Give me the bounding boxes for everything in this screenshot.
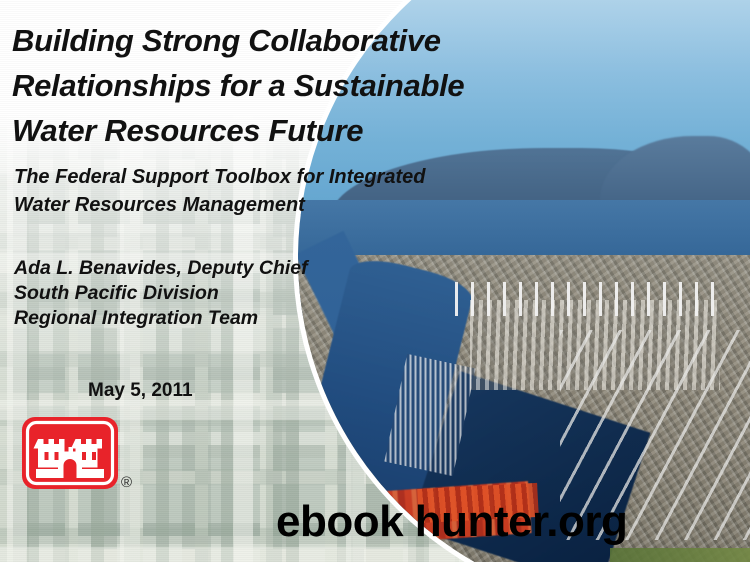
presentation-date: May 5, 2011 — [88, 380, 193, 402]
presentation-title-slide: Building Strong Collaborative Relationsh… — [0, 0, 750, 562]
presenter-block: Ada L. Benavides, Deputy Chief South Pac… — [14, 256, 434, 331]
site-watermark: ebook hunter.org — [276, 500, 627, 544]
title-line-3: Water Resources Future — [12, 108, 672, 153]
title-line-1: Building Strong Collaborative — [12, 18, 672, 63]
slide-subtitle: The Federal Support Toolbox for Integrat… — [14, 163, 554, 219]
presenter-division: South Pacific Division — [14, 281, 434, 306]
subtitle-line-1: The Federal Support Toolbox for Integrat… — [14, 163, 554, 191]
subtitle-line-2: Water Resources Management — [14, 191, 554, 219]
slide-title: Building Strong Collaborative Relationsh… — [12, 18, 672, 153]
registered-trademark-icon: ® — [121, 474, 132, 491]
title-line-2: Relationships for a Sustainable — [12, 63, 672, 108]
presenter-name: Ada L. Benavides, Deputy Chief — [14, 256, 434, 281]
presenter-team: Regional Integration Team — [14, 306, 434, 331]
usace-castle-logo-icon — [22, 417, 118, 489]
